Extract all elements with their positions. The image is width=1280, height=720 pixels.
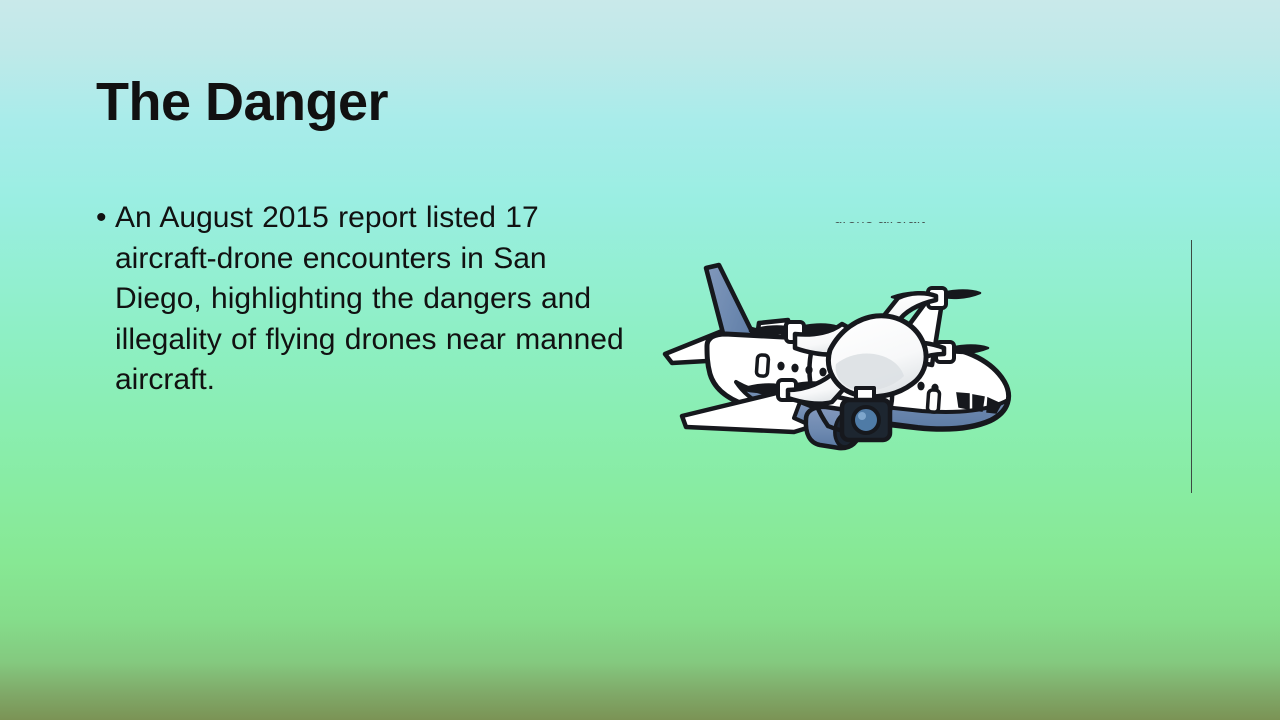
page-title: The Danger bbox=[96, 74, 388, 131]
slide-canvas: The Danger • An August 2015 report liste… bbox=[0, 0, 1280, 720]
bullet-marker-icon: • bbox=[96, 198, 115, 239]
bullet-item-text: An August 2015 report listed 17 aircraft… bbox=[115, 198, 626, 401]
airplane-rear-door bbox=[927, 390, 940, 413]
bullet-list-item: • An August 2015 report listed 17 aircra… bbox=[96, 198, 626, 401]
airplane-front-door bbox=[756, 355, 768, 377]
drone-camera-lens-highlight bbox=[858, 412, 866, 420]
drone-camera-lens bbox=[853, 407, 879, 433]
airplane-and-drone-illustration bbox=[660, 230, 1220, 512]
body-text-block: • An August 2015 report listed 17 aircra… bbox=[96, 198, 626, 401]
clipped-caption-text: drone aircraft bbox=[834, 222, 1014, 227]
picture-area: drone aircraft bbox=[660, 222, 1220, 512]
